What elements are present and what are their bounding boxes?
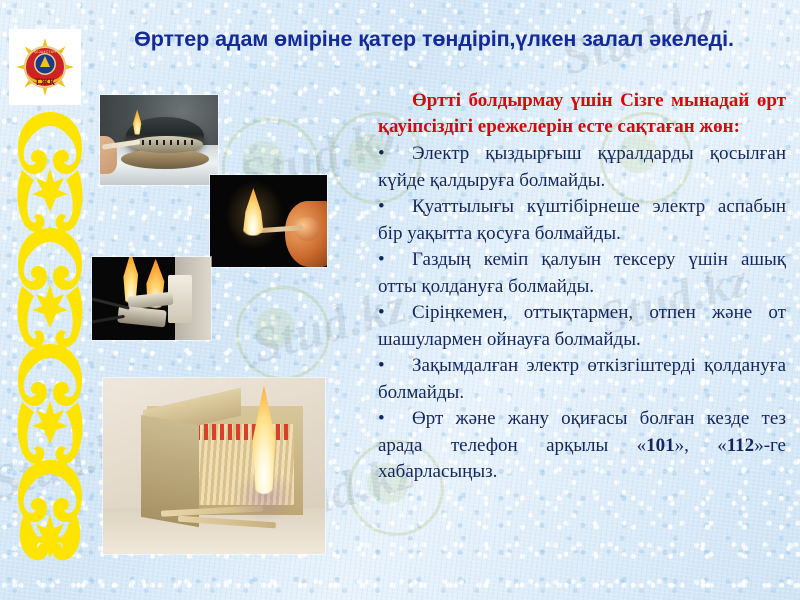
bullet-icon	[378, 300, 412, 327]
bullet-icon	[378, 194, 412, 221]
emblem-abbreviation: ТЖК	[16, 77, 74, 87]
bullet-icon	[378, 406, 412, 433]
rule-text: Зақымдалған электр өткізгіштерді қолдану…	[378, 355, 786, 403]
emergency-number-112: 112	[727, 435, 754, 456]
intro-heading: Өртті болдырмау үшін Сізге мынадай өрт қ…	[378, 88, 786, 140]
rule-item-emergency: Өрт және жану оқиғасы болған кезде тез а…	[378, 406, 786, 486]
rule-item: Қуаттылығы күштібірнеше электр аспабын б…	[378, 194, 786, 247]
rule-text: Сіріңкемен, оттықтармен, отпен және от ш…	[378, 302, 786, 350]
rule-text: Электр қыздырғыш құралдарды қосылған күй…	[378, 143, 786, 191]
photo-hand-holding-burning-match	[210, 175, 327, 267]
rule-item: Сіріңкемен, оттықтармен, отпен және от ш…	[378, 300, 786, 353]
fire-safety-rules-block: Өртті болдырмау үшін Сізге мынадай өрт қ…	[378, 88, 786, 486]
emergency-number-101: 101	[646, 435, 675, 456]
rule-item: Газдың кеміп қалуын тексеру үшін ашық от…	[378, 247, 786, 300]
bullet-icon	[378, 353, 412, 380]
photo-matchbox-with-igniting-match	[103, 378, 325, 554]
page-title: Өрттер адам өміріне қатер төндіріп,үлкен…	[84, 26, 784, 53]
bullet-icon	[378, 247, 412, 274]
photo-burning-electrical-outlet	[92, 257, 211, 340]
bullet-icon	[378, 141, 412, 168]
star-shape-icon: ҚАЗАҚСТАН ТЖК	[16, 38, 74, 96]
presentation-slide: Stud.kz Stud.kz Stud.kz Stud.kz Stud.kz …	[0, 0, 800, 600]
emblem-logo: ҚАЗАҚСТАН ТЖК	[9, 29, 81, 105]
kazakh-ornament-border	[12, 108, 88, 574]
emergency-text-middle: », «	[675, 435, 727, 456]
photo-gas-stove-lit-by-match	[100, 95, 218, 185]
watermark-ring-icon	[236, 286, 330, 380]
rule-text: Газдың кеміп қалуын тексеру үшін ашық от…	[378, 249, 786, 297]
rule-item: Электр қыздырғыш құралдарды қосылған күй…	[378, 141, 786, 194]
rule-text: Қуаттылығы күштібірнеше электр аспабын б…	[378, 196, 786, 244]
rule-item: Зақымдалған электр өткізгіштерді қолдану…	[378, 353, 786, 406]
